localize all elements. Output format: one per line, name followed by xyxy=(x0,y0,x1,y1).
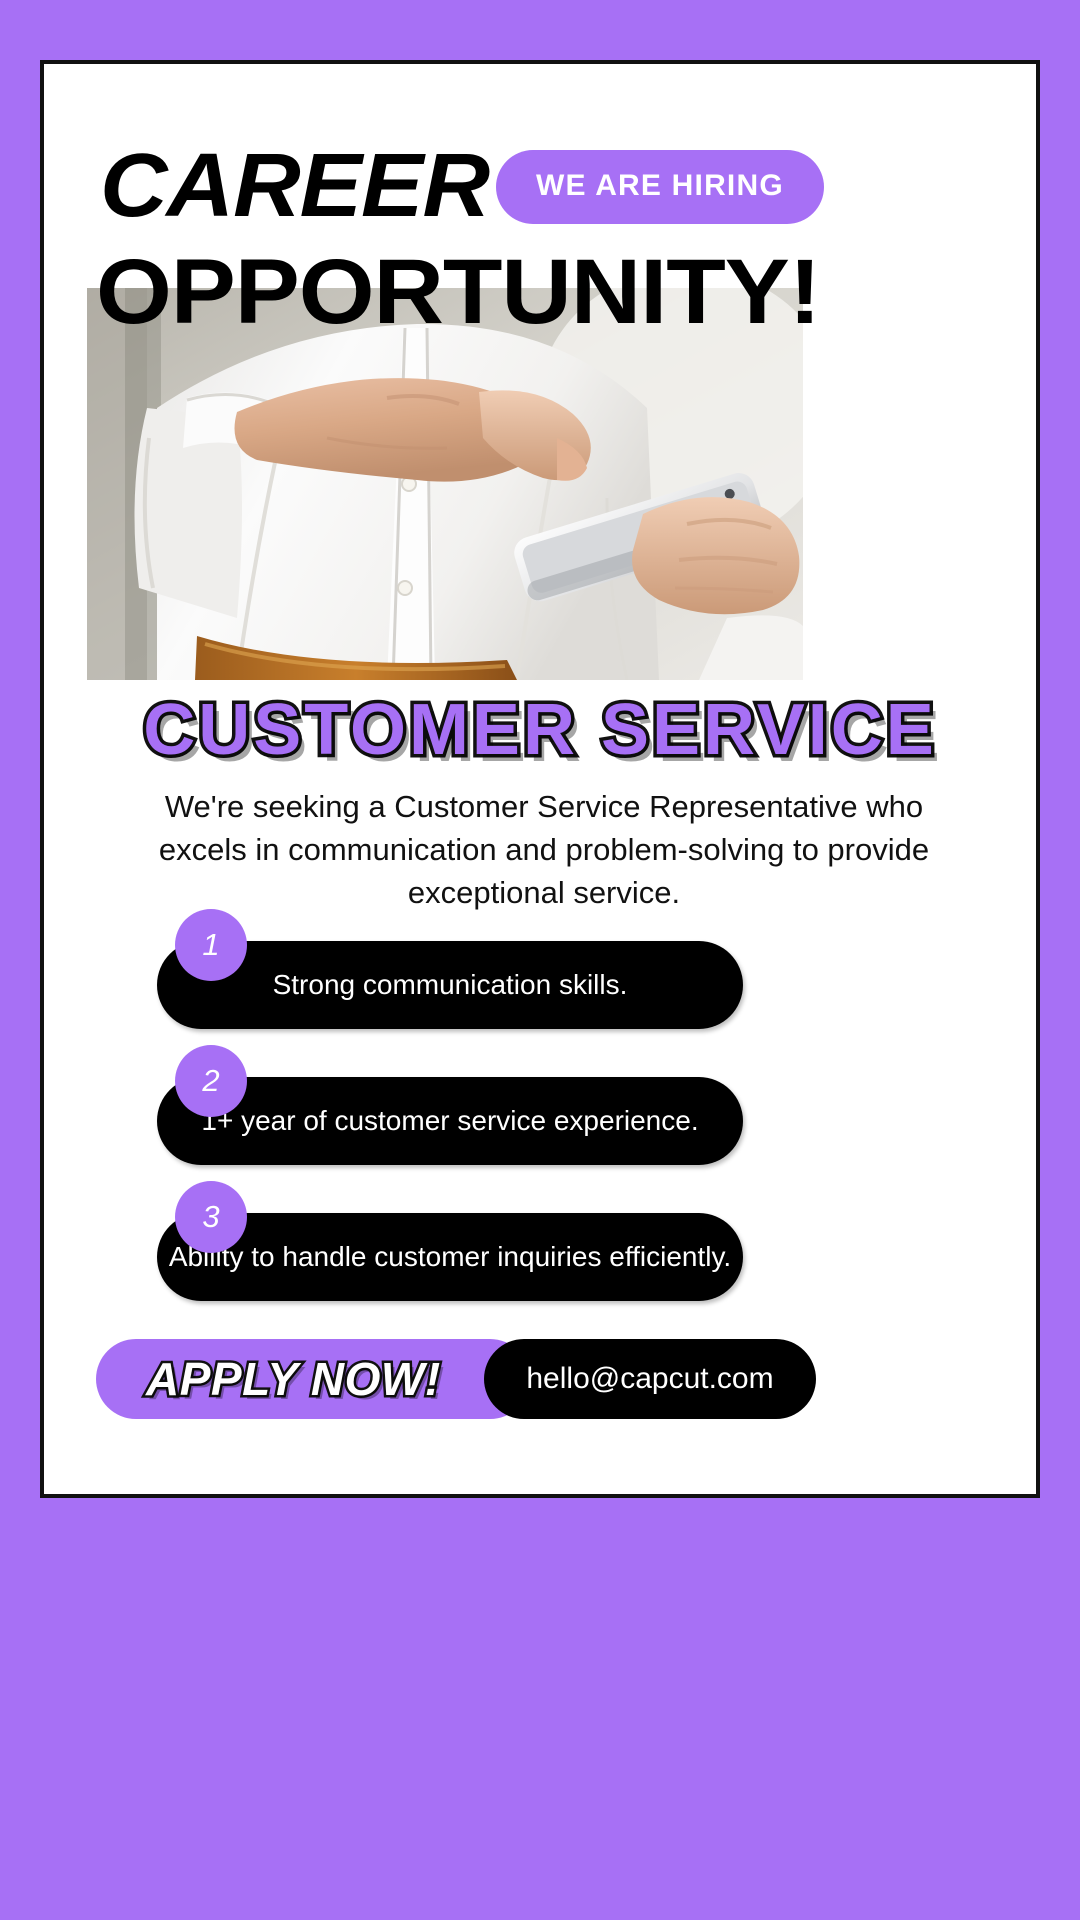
job-intro-text: We're seeking a Customer Service Represe… xyxy=(124,786,964,914)
cta-bar: APPLY NOW! hello@capcut.com xyxy=(96,1339,896,1419)
hero-photo xyxy=(87,288,803,680)
poster-card: CAREER WE ARE HIRING OPPORTUNITY! xyxy=(40,60,1040,1498)
requirement-text: 1+ year of customer service experience. xyxy=(201,1105,698,1137)
headline-row: CAREER WE ARE HIRING xyxy=(100,146,1000,227)
apply-now-button[interactable]: APPLY NOW! xyxy=(96,1339,530,1419)
job-title: CUSTOMER SERVICE xyxy=(44,694,1036,766)
contact-email-button[interactable]: hello@capcut.com xyxy=(484,1339,816,1419)
headline-line-2: OPPORTUNITY! xyxy=(96,246,820,338)
requirement-text: Ability to handle customer inquiries eff… xyxy=(169,1241,731,1273)
headline-line-1: CAREER xyxy=(100,146,489,227)
we-are-hiring-badge: WE ARE HIRING xyxy=(496,150,824,224)
contact-email-label: hello@capcut.com xyxy=(526,1362,773,1396)
requirement-number-badge: 1 xyxy=(175,909,247,981)
requirement-item: Ability to handle customer inquiries eff… xyxy=(44,1181,1036,1317)
apply-now-label: APPLY NOW! xyxy=(96,1352,441,1406)
requirement-number-badge: 3 xyxy=(175,1181,247,1253)
hero-photo-illustration xyxy=(87,288,803,680)
requirements-list: Strong communication skills. 1 1+ year o… xyxy=(44,909,1036,1317)
requirement-item: 1+ year of customer service experience. … xyxy=(44,1045,1036,1181)
requirement-item: Strong communication skills. 1 xyxy=(44,909,1036,1045)
requirement-text: Strong communication skills. xyxy=(273,969,628,1001)
requirement-number-badge: 2 xyxy=(175,1045,247,1117)
